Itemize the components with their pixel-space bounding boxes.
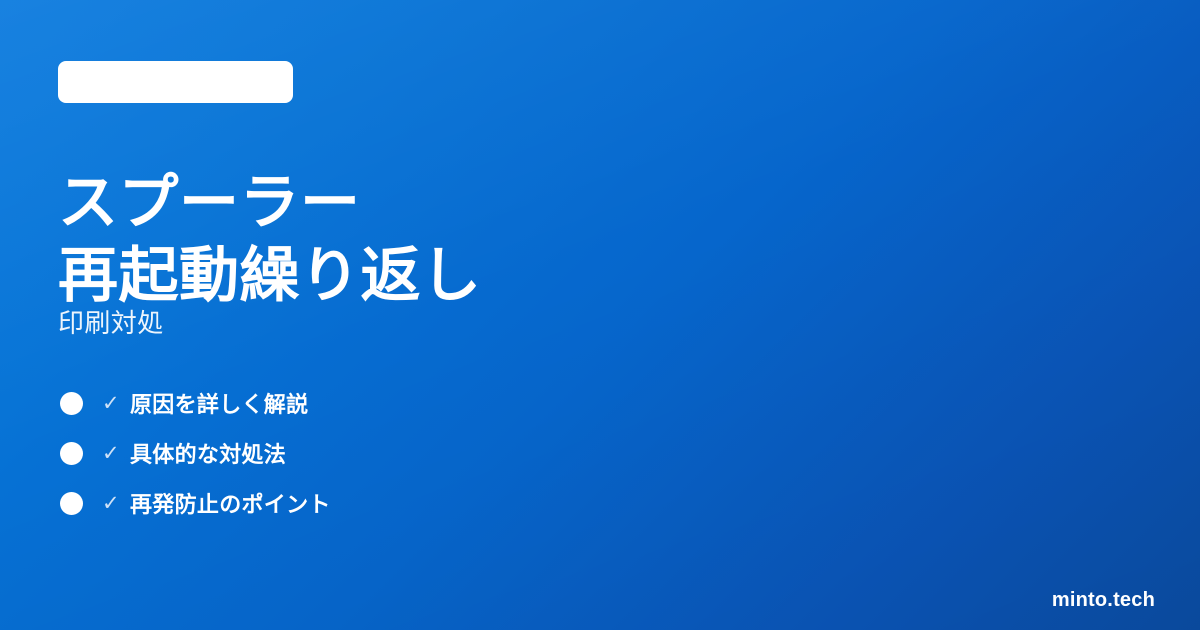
page-subtitle: 印刷対処 <box>58 308 164 339</box>
list-item: ✓ 原因を詳しく解説 <box>58 378 758 428</box>
ogp-card: スプーラー 再起動繰り返し 印刷対処 ✓ 原因を詳しく解説 ✓ 具体的な対処法 … <box>0 0 1200 630</box>
card-content: スプーラー 再起動繰り返し 印刷対処 ✓ 原因を詳しく解説 ✓ 具体的な対処法 … <box>58 0 1142 630</box>
check-icon: ✓ <box>102 443 130 464</box>
list-item: ✓ 再発防止のポイント <box>58 478 758 528</box>
bullet-dot-icon <box>60 492 83 515</box>
list-item-label: 原因を詳しく解説 <box>130 387 308 419</box>
list-item-label: 再発防止のポイント <box>130 487 331 519</box>
check-icon: ✓ <box>102 493 130 514</box>
feature-list: ✓ 原因を詳しく解説 ✓ 具体的な対処法 ✓ 再発防止のポイント <box>58 378 758 528</box>
check-icon: ✓ <box>102 393 130 414</box>
page-title-line-2: 再起動繰り返し <box>58 239 1058 312</box>
page-title-line-1: スプーラー <box>58 166 1058 239</box>
page-title: スプーラー 再起動繰り返し <box>58 166 1058 312</box>
site-brand: minto.tech <box>1052 589 1155 612</box>
bullet-dot-icon <box>60 392 83 415</box>
category-badge <box>58 61 293 103</box>
bullet-dot-icon <box>60 442 83 465</box>
list-item: ✓ 具体的な対処法 <box>58 428 758 478</box>
list-item-label: 具体的な対処法 <box>130 437 286 469</box>
